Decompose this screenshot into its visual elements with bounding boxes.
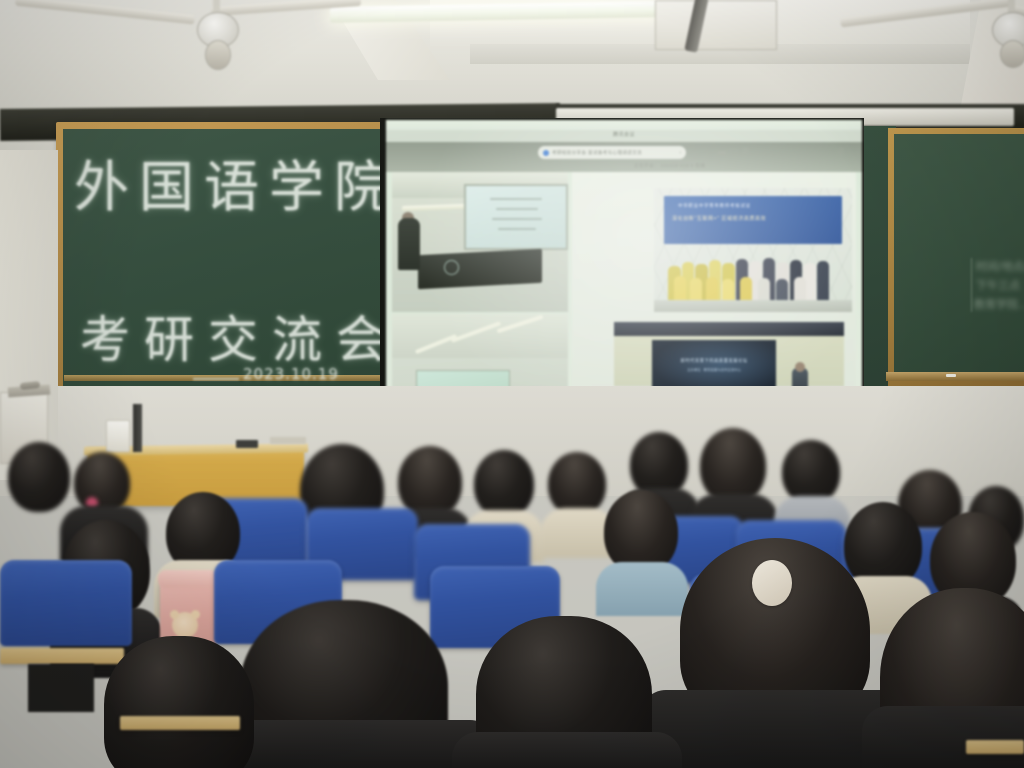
student-head xyxy=(548,452,606,516)
blackboard-right-surface xyxy=(894,134,1024,372)
video-thumbnail-lecture-room[interactable] xyxy=(392,172,568,312)
hamburger-menu-icon[interactable]: ☰ xyxy=(838,148,845,156)
desk-panel xyxy=(28,664,94,712)
blackboard-note-line-1: 时间/地点/内容 xyxy=(976,258,1024,275)
list-icon[interactable]: ☰ xyxy=(742,148,749,156)
blackboard-date: 2023.10.19 xyxy=(243,365,339,383)
desk xyxy=(966,740,1024,754)
slide-photo-stage-title: 新时代背景下的高质量发展论坛 xyxy=(664,358,764,364)
minimize-icon[interactable]: ▬ xyxy=(718,148,726,156)
thumbnail-emblem xyxy=(444,260,459,275)
blackboard-subtitle: 考研交流会 xyxy=(80,300,400,372)
student-head xyxy=(74,452,130,514)
desk xyxy=(0,648,124,664)
student-head xyxy=(782,440,840,504)
app-window-title: 腾讯会议 xyxy=(613,131,635,138)
podium-object xyxy=(270,437,306,444)
seat xyxy=(0,560,132,646)
blackboard-dash xyxy=(193,378,239,380)
blackboard-divider-line xyxy=(971,258,972,312)
classroom-photo: 外国语学院 考研交流会 2023.10.19 时间/地点/内容 下午三点 到场 … xyxy=(0,0,1024,768)
slide-photo-group: 中华职业中学青年教师考核试证 深化创新"互联网+" 区域经济高质高效 xyxy=(654,188,852,312)
podium-object xyxy=(236,440,258,448)
chalk-box xyxy=(106,420,130,452)
student-body xyxy=(596,562,688,616)
thumbnail-display-screen xyxy=(464,184,568,250)
slide-photo-stage-subtitle: 主办单位 · 教育发展与合作交流中心 xyxy=(672,367,756,372)
scrunchie-hair-tie xyxy=(752,560,792,606)
slide-banner-line-1: 中华职业中学青年教师考核试证 xyxy=(678,203,751,209)
search-input-value: 考研经验分享会·复试备考与心理调适交流 xyxy=(552,150,676,156)
thumbnail-podium xyxy=(418,249,542,289)
slide-group-photo-people xyxy=(666,240,840,302)
student-head xyxy=(8,442,70,512)
search-input[interactable]: 考研经验分享会·复试备考与心理调适交流 › xyxy=(538,146,686,159)
student-head xyxy=(474,450,534,518)
chalk-stick xyxy=(946,374,956,377)
blackboard-note-line-3: 教育学院... xyxy=(974,296,1024,313)
student-head-foreground xyxy=(104,636,254,768)
slide-banner-line-2: 深化创新"互联网+" 区域经济高质高效 xyxy=(672,215,766,222)
ceiling-projector-mount xyxy=(655,0,777,50)
maximize-icon[interactable]: ▢ xyxy=(730,148,738,156)
screen-top-strip xyxy=(386,120,862,130)
search-icon xyxy=(543,150,549,156)
pink-bag-flap xyxy=(158,570,218,588)
blackboard-title: 外国语学院 xyxy=(74,142,399,222)
student-body-foreground xyxy=(452,732,682,768)
chevron-right-icon: › xyxy=(679,150,681,156)
thumbnail-person-body xyxy=(398,218,420,270)
meeting-status-text: 正在开会： 131319 019 5 在线 xyxy=(634,163,705,169)
desk xyxy=(120,716,240,730)
pink-bag-print xyxy=(172,612,198,638)
blackboard-note-line-2: 下午三点 到场 xyxy=(976,277,1024,294)
student-body-foreground xyxy=(862,706,1024,768)
student-head xyxy=(700,428,766,504)
microphone-post xyxy=(133,404,142,452)
